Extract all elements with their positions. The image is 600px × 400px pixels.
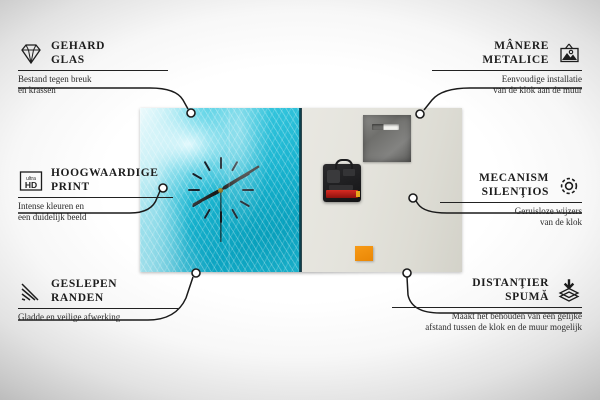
clock-second-hand: [220, 190, 221, 242]
feature-title-line2: METALICE: [482, 54, 549, 66]
clock-tick: [203, 161, 238, 219]
divider: [18, 70, 168, 71]
clock-tick: [203, 161, 238, 219]
gear-icon: [556, 174, 582, 198]
foam-spacer: [355, 246, 373, 261]
mechanism-detail: [327, 170, 340, 183]
clock-tick: [191, 173, 249, 208]
feature-desc-line1: Bestand tegen breuk: [18, 74, 91, 84]
clock-tick: [188, 189, 254, 191]
divider: [18, 197, 173, 198]
feature-title-line1: MECANISM: [479, 172, 549, 184]
metal-hanger-plate-icon: [363, 115, 411, 162]
clock-tick: [203, 161, 238, 219]
clock-tick: [191, 173, 249, 208]
mechanism-detail: [343, 169, 355, 176]
divider: [432, 70, 582, 71]
feature-title-line1: GESLEPEN: [51, 278, 117, 290]
feature-title-line1: HOOGWAARDIGE: [51, 167, 159, 179]
clock-tick: [191, 173, 249, 208]
quartz-mechanism: [323, 164, 361, 202]
feature-desc-line2: en krassen: [18, 85, 56, 95]
svg-text:HD: HD: [25, 180, 37, 190]
feature-title-line2: RANDEN: [51, 292, 104, 304]
feature-manere-metalice: MÂNERE METALICE Eenvoudige installatie v…: [432, 40, 582, 96]
feature-desc-line2: van de klok aan de muur: [493, 85, 582, 95]
panel-seam: [299, 108, 302, 272]
clock-tick: [203, 161, 238, 219]
feature-title-line2: GLAS: [51, 54, 85, 66]
feature-desc-line2: van de klok: [540, 217, 582, 227]
beveled-edge-icon: [18, 280, 44, 304]
feature-desc-line1: Gladde en veilige afwerking: [18, 312, 120, 322]
battery: [326, 190, 358, 198]
ultra-hd-icon: ultraHD: [18, 169, 44, 193]
divider: [18, 308, 178, 309]
feature-gehard-glas: GEHARD GLAS Bestand tegen breuk en krass…: [18, 40, 168, 96]
clock-center-cap: [218, 188, 223, 193]
feature-title-line1: MÂNERE: [494, 40, 549, 52]
feature-desc-line1: Eenvoudige installatie: [502, 74, 582, 84]
feature-geslepen-randen: GESLEPEN RANDEN Gladde en veilige afwerk…: [18, 278, 178, 323]
feature-desc-line1: Geruisloze wijzers: [515, 206, 582, 216]
feature-title-line1: GEHARD: [51, 40, 105, 52]
feature-mecanism-silentios: MECANISM SILENŢIOS Geruisloze wijzers va…: [440, 172, 582, 228]
feature-hoogwaardige-print: ultraHD HOOGWAARDIGE PRINT Intense kleur…: [18, 167, 173, 223]
clock-back-panel: [301, 108, 462, 272]
clock-tick: [220, 157, 222, 223]
infographic-canvas: GEHARD GLAS Bestand tegen breuk en krass…: [0, 0, 600, 400]
hanging-picture-icon: [556, 42, 582, 66]
clock-tick: [220, 157, 222, 223]
feature-title-line2: PRINT: [51, 181, 90, 193]
feature-distantier-spuma: DISTANŢIER SPUMĂ Maakt het behouden van …: [392, 277, 582, 333]
clock-tick: [191, 173, 249, 208]
clock-minute-hand: [219, 164, 259, 191]
feature-desc-line1: Maakt het behouden van een gelijke: [452, 311, 582, 321]
feature-desc-line1: Intense kleuren en: [18, 201, 84, 211]
feature-title-line2: SPUMĂ: [505, 291, 549, 303]
feature-title-line1: DISTANŢIER: [472, 277, 549, 289]
feature-desc-line2: afstand tussen de klok en de muur mogeli…: [425, 322, 582, 332]
divider: [392, 307, 582, 308]
clock-tick: [188, 189, 254, 191]
divider: [440, 202, 582, 203]
product-photo: [140, 108, 462, 272]
feature-desc-line2: een duidelijk beeld: [18, 212, 86, 222]
clock-hour-hand: [191, 188, 221, 207]
hanging-loop-icon: [335, 159, 353, 169]
feature-title-line2: SILENŢIOS: [482, 186, 549, 198]
diamond-icon: [18, 42, 44, 66]
spacer-arrow-icon: [556, 279, 582, 303]
